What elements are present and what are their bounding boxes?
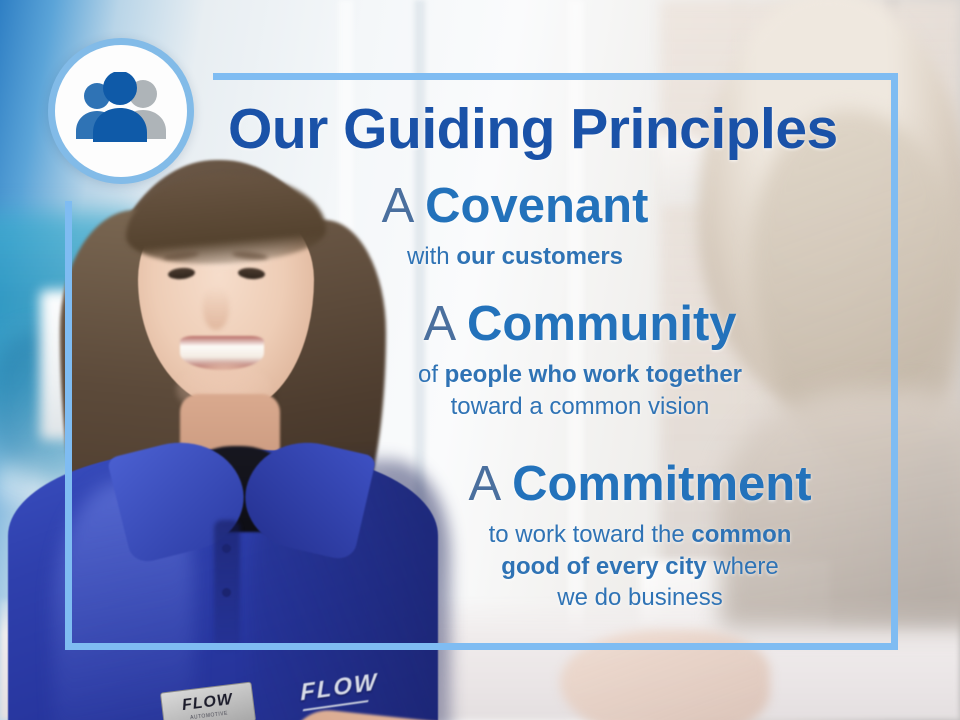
description-line: to work toward the common — [400, 519, 880, 551]
plain-text: we do business — [557, 584, 722, 611]
principle-description: to work toward the commongood of every c… — [400, 519, 880, 614]
principle-covenant: A Covenant with our customers — [300, 182, 730, 273]
principle-heading: A Community — [330, 300, 830, 350]
description-line: toward a common vision — [330, 391, 830, 423]
principle-commitment: A Commitment to work toward the commongo… — [400, 460, 880, 614]
principle-heading: A Covenant — [300, 182, 730, 232]
plain-text: toward a common vision — [451, 393, 710, 420]
text-content: Our Guiding Principles A Covenant with o… — [0, 0, 960, 720]
principle-description: with our customers — [300, 241, 730, 273]
description-line: good of every city where — [400, 551, 880, 583]
plain-text: with — [407, 243, 456, 270]
plain-text: of — [418, 361, 445, 388]
emphasis-text: common — [691, 521, 791, 548]
page-title: Our Guiding Principles — [228, 96, 838, 162]
principle-article: A — [423, 297, 453, 351]
description-line: with our customers — [300, 241, 730, 273]
principle-article: A — [382, 179, 412, 233]
principle-article: A — [468, 457, 498, 511]
plain-text: to work toward the — [489, 521, 692, 548]
plain-text: where — [707, 553, 779, 580]
emphasis-text: people who work together — [445, 361, 742, 388]
principle-community: A Community of people who work togethert… — [330, 300, 830, 422]
principle-keyword: Community — [467, 297, 737, 351]
emphasis-text: good of every city — [501, 553, 706, 580]
poster-canvas: FLOW AUTOMOTIVE FLOW — [0, 0, 960, 720]
description-line: we do business — [400, 582, 880, 614]
principle-keyword: Commitment — [512, 457, 811, 511]
emphasis-text: our customers — [456, 243, 623, 270]
principle-keyword: Covenant — [425, 179, 648, 233]
description-line: of people who work together — [330, 359, 830, 391]
principle-description: of people who work togethertoward a comm… — [330, 359, 830, 422]
principle-heading: A Commitment — [400, 460, 880, 510]
